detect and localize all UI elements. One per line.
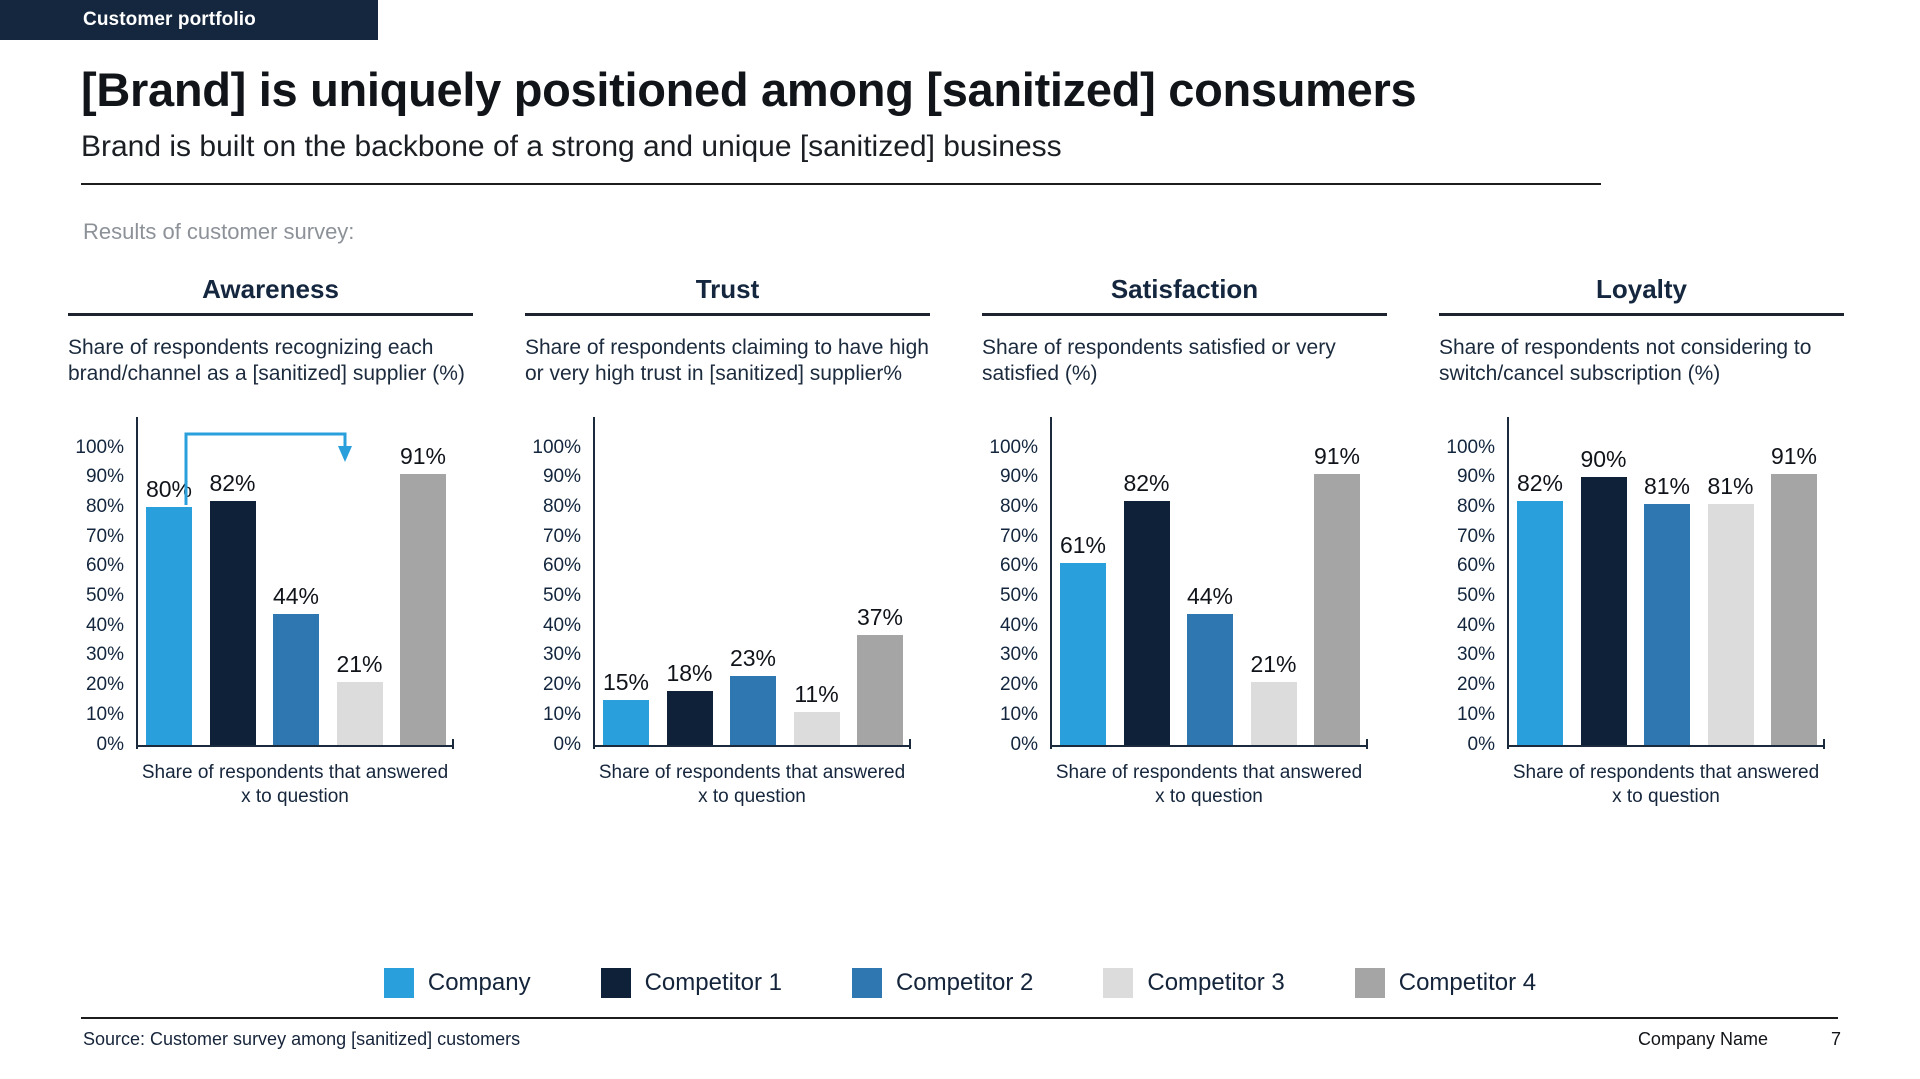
y-axis-tick: 60% (1457, 555, 1495, 577)
panel-divider (1439, 313, 1844, 316)
bar-value-label: 91% (400, 443, 446, 470)
bar-slot: 37% (857, 448, 903, 745)
y-axis-tick: 90% (1457, 466, 1495, 488)
slide-root: Customer portfolio [Brand] is uniquely p… (0, 0, 1920, 1079)
bar-company[interactable] (1517, 501, 1563, 745)
chart-legend: CompanyCompetitor 1Competitor 2Competito… (0, 968, 1920, 998)
bar-competitor-3[interactable] (1708, 504, 1754, 745)
x-axis-line (1050, 745, 1368, 747)
plot-area: 82%90%81%81%91% (1517, 448, 1817, 745)
y-axis-tick: 100% (532, 437, 581, 459)
y-axis-tick: 90% (543, 466, 581, 488)
y-axis-tick: 100% (989, 437, 1038, 459)
bar-slot: 90% (1581, 448, 1627, 745)
x-axis-line (136, 745, 454, 747)
y-axis-tick: 20% (1000, 674, 1038, 696)
y-axis-tick: 50% (1457, 585, 1495, 607)
legend-swatch-icon (1355, 968, 1385, 998)
x-axis-right-cap (452, 739, 454, 749)
y-axis-tick: 80% (543, 496, 581, 518)
y-axis-tick: 70% (1000, 526, 1038, 548)
panel-divider (982, 313, 1387, 316)
source-note: Source: Customer survey among [sanitized… (83, 1029, 520, 1050)
y-axis-tick: 30% (1000, 644, 1038, 666)
panel-description: Share of respondents not considering to … (1439, 335, 1844, 388)
plot-area: 61%82%44%21%91% (1060, 448, 1360, 745)
panel-loyalty: LoyaltyShare of respondents not consider… (1439, 275, 1844, 777)
y-axis-tick: 10% (86, 704, 124, 726)
bar-competitor-1[interactable] (667, 691, 713, 744)
panel-description: Share of respondents recognizing each br… (68, 335, 473, 388)
bar-value-label: 81% (1707, 473, 1753, 500)
bar-value-label: 23% (730, 645, 776, 672)
y-axis-tick: 30% (1457, 644, 1495, 666)
legend-swatch-icon (852, 968, 882, 998)
bar-value-label: 44% (273, 583, 319, 610)
y-axis-tick: 80% (86, 496, 124, 518)
y-axis-tick: 20% (1457, 674, 1495, 696)
y-axis-tick: 80% (1000, 496, 1038, 518)
bar-value-label: 21% (336, 651, 382, 678)
bar-slot: 82% (1517, 448, 1563, 745)
legend-label: Competitor 2 (896, 969, 1033, 997)
legend-label: Competitor 4 (1399, 969, 1536, 997)
bar-chart: 100%90%80%70%60%50%40%30%20%10%0%61%82%4… (982, 417, 1387, 777)
panel-satisfaction: SatisfactionShare of respondents satisfi… (982, 275, 1387, 777)
y-axis-tick: 70% (1457, 526, 1495, 548)
y-axis-tick: 50% (86, 585, 124, 607)
y-axis-tick: 10% (1457, 704, 1495, 726)
plot-area: 80%82%44%21%91% (146, 448, 446, 745)
bar-slot: 44% (1187, 448, 1233, 745)
x-axis-left-cap (593, 739, 595, 749)
y-axis-tick: 10% (543, 704, 581, 726)
bar-value-label: 82% (1517, 470, 1563, 497)
bar-value-label: 91% (1314, 443, 1360, 470)
plot-area: 15%18%23%11%37% (603, 448, 903, 745)
x-axis-line (593, 745, 911, 747)
bar-slot: 91% (1314, 448, 1360, 745)
y-axis-line (136, 417, 138, 747)
legend-label: Competitor 1 (645, 969, 782, 997)
bar-slot: 80% (146, 448, 192, 745)
bar-competitor-2[interactable] (1187, 614, 1233, 745)
panel-description: Share of respondents satisfied or very s… (982, 335, 1387, 388)
footer-company-name: Company Name (1638, 1029, 1768, 1050)
legend-item-competitor-4[interactable]: Competitor 4 (1355, 968, 1536, 998)
bar-competitor-4[interactable] (1314, 474, 1360, 744)
y-axis-tick: 100% (75, 437, 124, 459)
bar-competitor-2[interactable] (1644, 504, 1690, 745)
bar-competitor-2[interactable] (730, 676, 776, 744)
bar-value-label: 44% (1187, 583, 1233, 610)
bar-value-label: 18% (666, 660, 712, 687)
bar-value-label: 21% (1250, 651, 1296, 678)
bar-slot: 15% (603, 448, 649, 745)
bar-slot: 44% (273, 448, 319, 745)
bar-competitor-4[interactable] (1771, 474, 1817, 744)
legend-item-competitor-2[interactable]: Competitor 2 (852, 968, 1033, 998)
panel-divider (68, 313, 473, 316)
bar-value-label: 15% (603, 669, 649, 696)
y-axis-tick: 70% (86, 526, 124, 548)
y-axis: 100%90%80%70%60%50%40%30%20%10%0% (982, 417, 1044, 747)
bar-slot: 23% (730, 448, 776, 745)
bar-value-label: 11% (794, 681, 838, 708)
y-axis-tick: 60% (543, 555, 581, 577)
y-axis-tick: 40% (86, 615, 124, 637)
y-axis-tick: 50% (1000, 585, 1038, 607)
y-axis-tick: 20% (543, 674, 581, 696)
header-divider (81, 183, 1601, 185)
panel-title: Satisfaction (982, 275, 1387, 304)
panel-title: Trust (525, 275, 930, 304)
y-axis-tick: 50% (543, 585, 581, 607)
bar-competitor-4[interactable] (400, 474, 446, 744)
bar-chart: 100%90%80%70%60%50%40%30%20%10%0%15%18%2… (525, 417, 930, 777)
bar-slot: 91% (1771, 448, 1817, 745)
bar-competitor-1[interactable] (1581, 477, 1627, 744)
bar-value-label: 91% (1771, 443, 1817, 470)
y-axis-tick: 90% (1000, 466, 1038, 488)
y-axis-tick: 20% (86, 674, 124, 696)
bar-slot: 81% (1708, 448, 1754, 745)
x-axis-right-cap (909, 739, 911, 749)
bar-slot: 18% (667, 448, 713, 745)
bar-competitor-1[interactable] (1124, 501, 1170, 745)
bar-value-label: 82% (209, 470, 255, 497)
bar-company[interactable] (146, 507, 192, 745)
x-axis-right-cap (1366, 739, 1368, 749)
bar-competitor-4[interactable] (857, 635, 903, 745)
bar-value-label: 90% (1580, 446, 1626, 473)
page-title: [Brand] is uniquely positioned among [sa… (81, 62, 1416, 117)
bar-chart: 100%90%80%70%60%50%40%30%20%10%0%80%82%4… (68, 417, 473, 777)
y-axis-tick: 60% (1000, 555, 1038, 577)
y-axis: 100%90%80%70%60%50%40%30%20%10%0% (1439, 417, 1501, 747)
y-axis-tick: 0% (1468, 734, 1495, 756)
y-axis-tick: 30% (86, 644, 124, 666)
x-axis-left-cap (136, 739, 138, 749)
bar-value-label: 82% (1123, 470, 1169, 497)
x-axis-caption: Share of respondents that answered x to … (1050, 761, 1368, 810)
y-axis-line (1507, 417, 1509, 747)
footer-divider (81, 1017, 1838, 1019)
y-axis-tick: 0% (97, 734, 124, 756)
bar-slot: 61% (1060, 448, 1106, 745)
panel-container: AwarenessShare of respondents recognizin… (0, 275, 1920, 975)
legend-swatch-icon (601, 968, 631, 998)
x-axis-right-cap (1823, 739, 1825, 749)
bar-value-label: 37% (857, 604, 903, 631)
x-axis-caption: Share of respondents that answered x to … (593, 761, 911, 810)
page-subtitle: Brand is built on the backbone of a stro… (81, 130, 1062, 164)
bar-slot: 91% (400, 448, 446, 745)
bar-slot: 81% (1644, 448, 1690, 745)
page-number: 7 (1831, 1029, 1841, 1050)
panel-title: Loyalty (1439, 275, 1844, 304)
y-axis: 100%90%80%70%60%50%40%30%20%10%0% (68, 417, 130, 747)
y-axis: 100%90%80%70%60%50%40%30%20%10%0% (525, 417, 587, 747)
panel-awareness: AwarenessShare of respondents recognizin… (68, 275, 473, 777)
kicker-bar: Customer portfolio (0, 0, 378, 40)
y-axis-tick: 40% (1457, 615, 1495, 637)
panel-title: Awareness (68, 275, 473, 304)
legend-item-competitor-1[interactable]: Competitor 1 (601, 968, 782, 998)
bar-competitor-3[interactable] (794, 712, 840, 745)
y-axis-tick: 40% (1000, 615, 1038, 637)
bar-chart: 100%90%80%70%60%50%40%30%20%10%0%82%90%8… (1439, 417, 1844, 777)
y-axis-tick: 90% (86, 466, 124, 488)
bar-competitor-1[interactable] (210, 501, 256, 745)
y-axis-tick: 100% (1446, 437, 1495, 459)
y-axis-line (593, 417, 595, 747)
bar-slot: 82% (1124, 448, 1170, 745)
legend-label: Company (428, 969, 531, 997)
legend-item-competitor-3[interactable]: Competitor 3 (1103, 968, 1284, 998)
y-axis-line (1050, 417, 1052, 747)
y-axis-tick: 0% (1011, 734, 1038, 756)
bar-competitor-2[interactable] (273, 614, 319, 745)
y-axis-tick: 10% (1000, 704, 1038, 726)
x-axis-line (1507, 745, 1825, 747)
bar-value-label: 61% (1060, 532, 1106, 559)
legend-item-company[interactable]: Company (384, 968, 531, 998)
y-axis-tick: 60% (86, 555, 124, 577)
x-axis-caption: Share of respondents that answered x to … (1507, 761, 1825, 810)
bar-value-label: 81% (1644, 473, 1690, 500)
panel-divider (525, 313, 930, 316)
y-axis-tick: 70% (543, 526, 581, 548)
panel-description: Share of respondents claiming to have hi… (525, 335, 930, 388)
y-axis-tick: 80% (1457, 496, 1495, 518)
bar-competitor-3[interactable] (1251, 682, 1297, 744)
kicker-label: Customer portfolio (0, 9, 256, 31)
bar-slot: 21% (337, 448, 383, 745)
y-axis-tick: 40% (543, 615, 581, 637)
bar-slot: 21% (1251, 448, 1297, 745)
bar-slot: 82% (210, 448, 256, 745)
bar-company[interactable] (1060, 563, 1106, 744)
x-axis-left-cap (1507, 739, 1509, 749)
x-axis-caption: Share of respondents that answered x to … (136, 761, 454, 810)
results-label: Results of customer survey: (83, 219, 354, 245)
panel-trust: TrustShare of respondents claiming to ha… (525, 275, 930, 777)
y-axis-tick: 0% (554, 734, 581, 756)
x-axis-left-cap (1050, 739, 1052, 749)
bar-slot: 11% (794, 448, 840, 745)
bar-value-label: 80% (146, 476, 192, 503)
bar-competitor-3[interactable] (337, 682, 383, 744)
legend-label: Competitor 3 (1147, 969, 1284, 997)
legend-swatch-icon (1103, 968, 1133, 998)
y-axis-tick: 30% (543, 644, 581, 666)
bar-company[interactable] (603, 700, 649, 745)
legend-swatch-icon (384, 968, 414, 998)
